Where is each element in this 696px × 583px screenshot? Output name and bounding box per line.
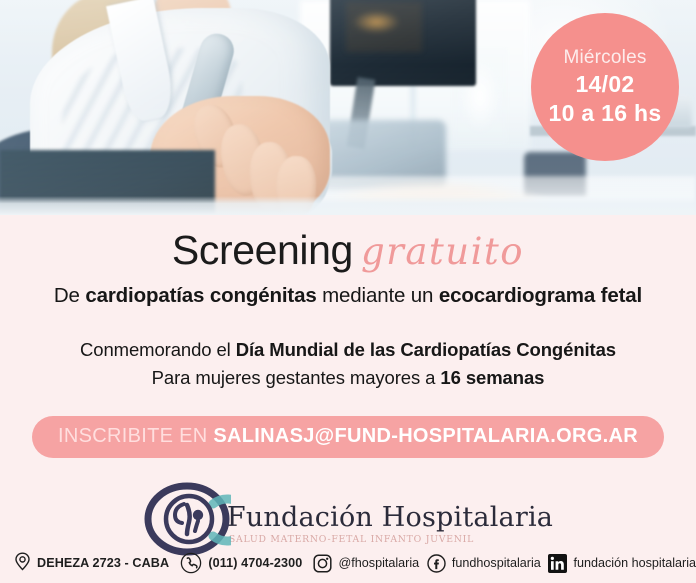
cta-container: INSCRIBITE EN SALINASJ@FUND-HOSPITALARIA… <box>0 416 696 458</box>
linkedin-icon <box>548 554 567 573</box>
footer-facebook-item[interactable]: fundhospitalaria <box>427 554 541 573</box>
commemoration-text: Conmemorando el Día Mundial de las Cardi… <box>0 336 696 392</box>
photo-monitor-scan-image <box>346 2 422 52</box>
footer-linkedin-item[interactable]: fundación hospitalaria <box>548 554 696 573</box>
footer-address-text: DEHEZA 2723 - CABA <box>37 556 169 570</box>
footer-phone-text: (011) 4704-2300 <box>208 556 302 570</box>
subheadline-bold1: cardiopatías congénitas <box>85 284 316 307</box>
photo-bottom-fade <box>0 196 696 215</box>
footer-bar: DEHEZA 2723 - CABA (011) 4704-2300 <box>0 543 696 583</box>
content-panel: Screeninggratuito De cardiopatías congén… <box>0 215 696 583</box>
instagram-icon <box>313 554 332 573</box>
subheadline-part2: mediante un <box>317 284 439 307</box>
footer-instagram-text: @fhospitalaria <box>338 556 419 570</box>
cta-email-address: SALINASJ@FUND-HOSPITALARIA.ORG.AR <box>213 425 638 447</box>
footer-address-item: DEHEZA 2723 - CABA <box>14 552 169 574</box>
location-pin-icon <box>14 552 31 574</box>
commemoration-line1-pre: Conmemorando el <box>80 339 236 360</box>
register-email-button[interactable]: INSCRIBITE EN SALINASJ@FUND-HOSPITALARIA… <box>32 416 664 458</box>
phone-icon <box>180 552 202 574</box>
date-badge-date: 14/02 <box>575 71 634 98</box>
commemoration-line2-pre: Para mujeres gestantes mayores a <box>152 367 441 388</box>
footer-linkedin-text: fundación hospitalaria <box>573 556 696 570</box>
hero-photo: Miércoles 14/02 10 a 16 hs <box>0 0 696 215</box>
facebook-icon <box>427 554 446 573</box>
headline-main: Screening <box>172 227 353 273</box>
page-title: Screeninggratuito <box>0 215 696 274</box>
logo-text-block: Fundación Hospitalaria SALUD MATERNO-FET… <box>227 494 553 545</box>
date-badge: Miércoles 14/02 10 a 16 hs <box>531 13 679 161</box>
date-badge-day: Miércoles <box>563 47 646 69</box>
commemoration-line-1: Conmemorando el Día Mundial de las Cardi… <box>0 336 696 364</box>
poster-root: Miércoles 14/02 10 a 16 hs Screeninggrat… <box>0 0 696 583</box>
subheadline-bold2: ecocardiograma fetal <box>439 284 642 307</box>
date-badge-time: 10 a 16 hs <box>549 100 662 127</box>
subheadline: De cardiopatías congénitas mediante un e… <box>0 284 696 308</box>
commemoration-line2-bold: 16 semanas <box>440 367 544 388</box>
commemoration-line-2: Para mujeres gestantes mayores a 16 sema… <box>0 364 696 392</box>
footer-instagram-item[interactable]: @fhospitalaria <box>313 554 419 573</box>
subheadline-part1: De <box>54 284 85 307</box>
commemoration-line1-bold: Día Mundial de las Cardiopatías Congénit… <box>236 339 616 360</box>
logo-name: Fundación Hospitalaria <box>227 504 553 531</box>
footer-facebook-text: fundhospitalaria <box>452 556 541 570</box>
footer-phone-item: (011) 4704-2300 <box>180 552 302 574</box>
cta-label-light: INSCRIBITE EN <box>58 425 213 447</box>
headline-script: gratuito <box>361 230 524 273</box>
